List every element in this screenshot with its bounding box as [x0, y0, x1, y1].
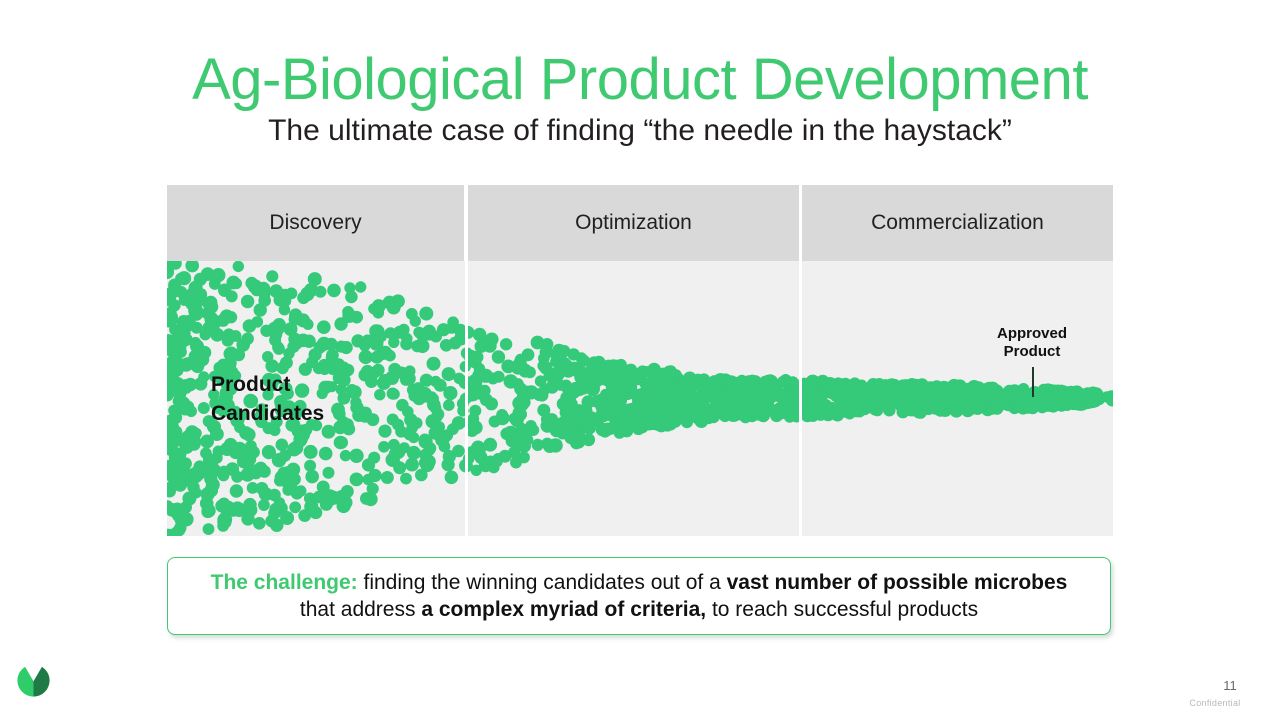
challenge-segment: finding the winning candidates out of a — [358, 571, 727, 594]
column-divider — [799, 261, 802, 536]
leader-line — [1032, 367, 1034, 400]
page-title: Ag-Biological Product Development — [0, 48, 1280, 112]
stage-header-row: Discovery Optimization Commercialization — [167, 185, 1113, 261]
approved-product-dot — [1026, 397, 1040, 411]
slide: Ag-Biological Product Development The ul… — [0, 0, 1280, 720]
leaf-logo — [16, 663, 51, 698]
challenge-lead: The challenge: — [211, 571, 358, 594]
approved-product-label: Approved Product — [963, 325, 1101, 361]
challenge-callout: The challenge: finding the winning candi… — [167, 557, 1111, 635]
page-number: 11 — [1200, 678, 1260, 693]
challenge-segment: vast number of possible microbes — [727, 571, 1068, 594]
challenge-segment: a complex myriad of criteria, — [421, 598, 706, 621]
stage-header-label: Optimization — [575, 211, 692, 235]
challenge-segment: that address — [300, 598, 421, 621]
challenge-segment: to reach successful products — [706, 598, 978, 621]
stage-header-label: Discovery — [269, 211, 361, 235]
product-candidates-label: Product Candidates — [211, 370, 324, 428]
column-divider — [465, 261, 468, 536]
challenge-text: The challenge: finding the winning candi… — [194, 569, 1084, 623]
stage-header-label: Commercialization — [871, 211, 1044, 235]
page-subtitle: The ultimate case of finding “the needle… — [0, 111, 1280, 151]
stage-header-discovery[interactable]: Discovery — [167, 185, 464, 261]
confidential-marker: Confidential — [1170, 698, 1260, 708]
stage-header-optimization[interactable]: Optimization — [468, 185, 799, 261]
stage-header-commercialization[interactable]: Commercialization — [802, 185, 1113, 261]
